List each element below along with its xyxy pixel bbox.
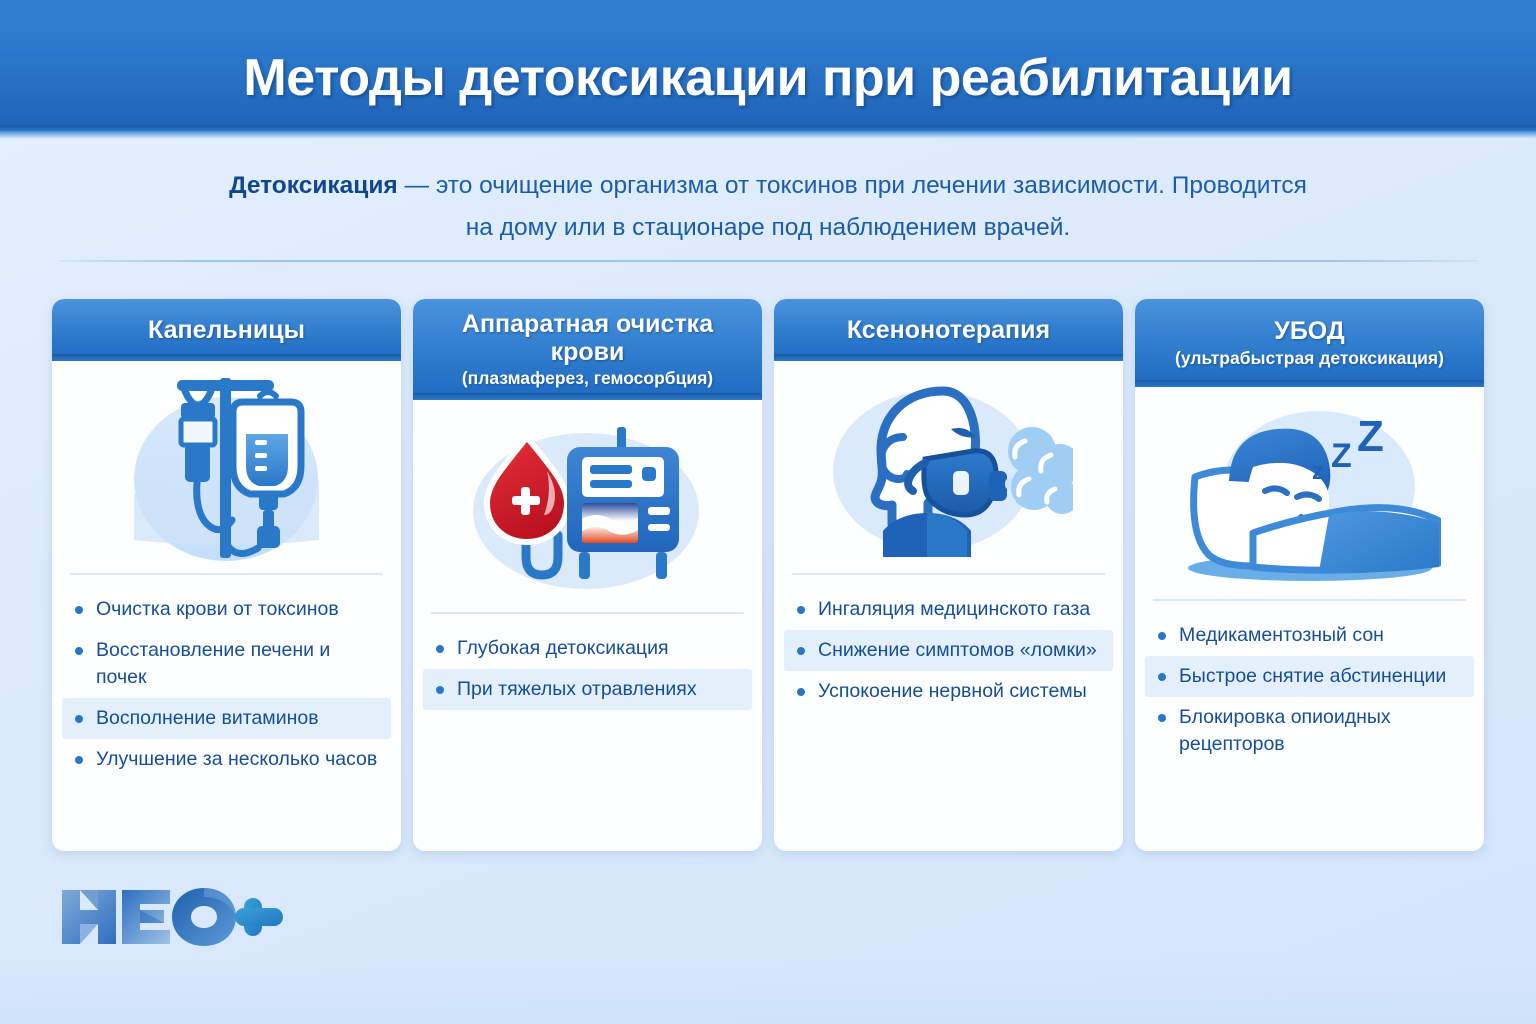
card-subtitle: (ультрабыстрая детоксикация) xyxy=(1145,348,1474,370)
sleeping-patient-icon: z Z Z xyxy=(1135,387,1484,599)
bullet-icon xyxy=(75,715,83,723)
method-card-apparatnaya-ochistka-krovi[interactable]: Аппаратная очистка крови (плазмаферез, г… xyxy=(413,299,762,851)
list-item-text: Глубокая детоксикация xyxy=(457,637,669,659)
page-title: Методы детоксикации при реабилитации xyxy=(0,48,1536,108)
card-header: Ксенонотерапия xyxy=(774,299,1123,361)
list-item-text: При тяжелых отравлениях xyxy=(457,678,697,700)
method-card-ksenonoterapiya[interactable]: Ксенонотерапия xyxy=(774,299,1123,851)
svg-text:z: z xyxy=(1312,458,1324,485)
intro-line2: на дому или в стационаре под наблюдением… xyxy=(168,207,1368,249)
list-item-text: Блокировка опиоидных рецепторов xyxy=(1179,706,1391,755)
bullet-icon xyxy=(436,686,444,694)
card-header: Капельницы xyxy=(52,299,401,361)
bullet-icon xyxy=(797,647,805,655)
bullet-icon xyxy=(75,756,83,764)
benefit-list: Глубокая детоксикация При тяжелых отравл… xyxy=(413,614,762,851)
bullet-icon xyxy=(1158,673,1166,681)
card-header: УБОД (ультрабыстрая детоксикация) xyxy=(1135,299,1484,387)
list-item: Медикаментозный сон xyxy=(1145,615,1474,656)
list-item: Успокоение нервной системы xyxy=(784,671,1113,712)
intro-lead: Детоксикация xyxy=(229,172,398,199)
bullet-icon xyxy=(436,645,444,653)
list-item: Восполнение витаминов xyxy=(62,698,391,739)
list-item-text: Медикаментозный сон xyxy=(1179,624,1384,646)
list-item-text: Восстановление печени и почек xyxy=(96,639,330,688)
list-item-text: Успокоение нервной системы xyxy=(818,680,1087,702)
method-card-ubod[interactable]: УБОД (ультрабыстрая детоксикация) xyxy=(1135,299,1484,851)
card-subtitle: (плазмаферез, гемосорбция) xyxy=(423,368,752,390)
card-title: УБОД xyxy=(1145,318,1474,346)
list-item-text: Снижение симптомов «ломки» xyxy=(818,639,1097,661)
intro-text: Детоксикация — это очищение организма от… xyxy=(168,165,1368,249)
list-item: Глубокая детоксикация xyxy=(423,628,752,669)
list-item-text: Очистка крови от токсинов xyxy=(96,598,339,620)
gas-mask-inhalation-icon xyxy=(774,361,1123,573)
bullet-icon xyxy=(1158,632,1166,640)
brand-logo xyxy=(58,886,288,948)
bullet-icon xyxy=(75,606,83,614)
card-header: Аппаратная очистка крови (плазмаферез, г… xyxy=(413,299,762,400)
list-item: Быстрое снятие абстиненции xyxy=(1145,656,1474,697)
list-item: Ингаляция медицинското газа xyxy=(784,589,1113,630)
intro-line1: — это очищение организма от токсинов при… xyxy=(398,172,1307,199)
bullet-icon xyxy=(797,606,805,614)
method-card-row: Капельницы xyxy=(52,299,1484,851)
list-item-text: Ингаляция медицинското газа xyxy=(818,598,1090,620)
bullet-icon xyxy=(1158,714,1166,722)
benefit-list: Ингаляция медицинското газа Снижение сим… xyxy=(774,575,1123,851)
list-item: Очистка крови от токсинов xyxy=(62,589,391,630)
method-card-kapelnitsy[interactable]: Капельницы xyxy=(52,299,401,851)
iv-drip-icon xyxy=(52,361,401,573)
header-underline xyxy=(0,131,1536,138)
svg-text:Z: Z xyxy=(1357,412,1384,461)
list-item: Снижение симптомов «ломки» xyxy=(784,630,1113,671)
bullet-icon xyxy=(75,647,83,655)
list-item: Восстановление печени и почек xyxy=(62,630,391,698)
blood-apheresis-machine-icon xyxy=(413,400,762,612)
list-item-text: Улучшение за несколько часов xyxy=(96,748,377,770)
benefit-list: Очистка крови от токсинов Восстановление… xyxy=(52,575,401,851)
benefit-list: Медикаментозный сон Быстрое снятие абсти… xyxy=(1135,601,1484,851)
list-item: При тяжелых отравлениях xyxy=(423,669,752,710)
card-title: Капельницы xyxy=(62,317,391,345)
list-item-text: Быстрое снятие абстиненции xyxy=(1179,665,1446,687)
card-title: Аппаратная очистка крови xyxy=(423,311,752,366)
bottom-fade xyxy=(0,954,1536,1024)
section-divider xyxy=(58,260,1478,262)
svg-text:Z: Z xyxy=(1331,437,1352,475)
card-title: Ксенонотерапия xyxy=(784,317,1113,345)
bullet-icon xyxy=(797,688,805,696)
list-item-text: Восполнение витаминов xyxy=(96,707,319,729)
list-item: Блокировка опиоидных рецепторов xyxy=(1145,697,1474,765)
list-item: Улучшение за несколько часов xyxy=(62,739,391,780)
